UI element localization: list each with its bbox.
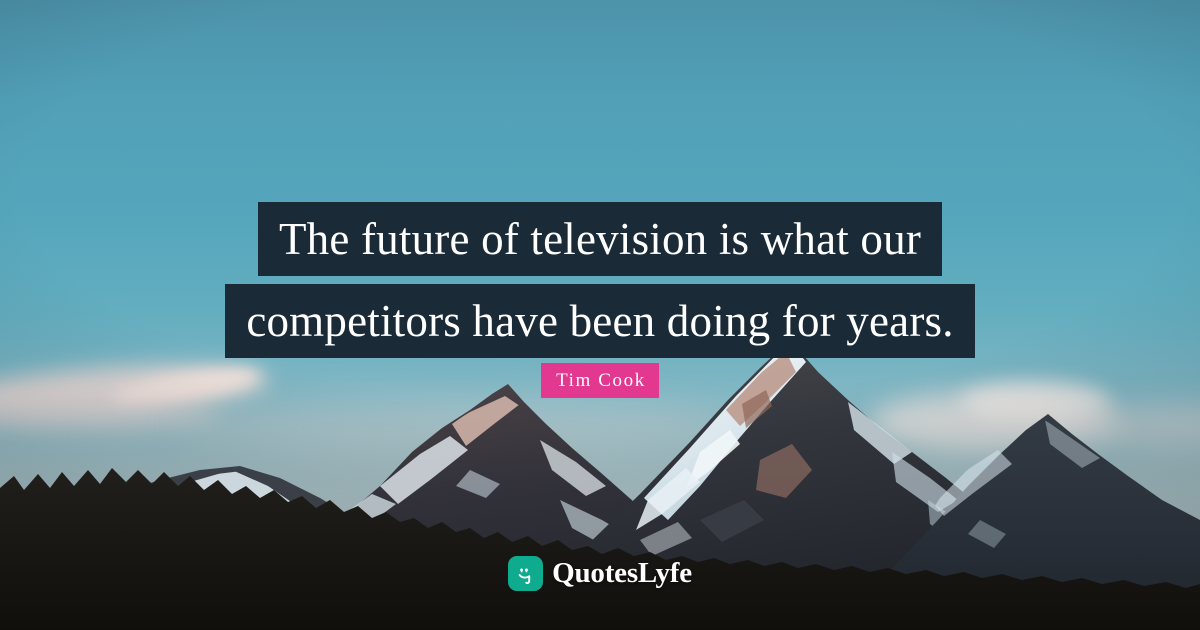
- brand-logo[interactable]: QuotesLyfe: [0, 556, 1200, 591]
- author-name-badge: Tim Cook: [541, 363, 659, 398]
- quote-line-2: competitors have been doing for years.: [225, 284, 974, 358]
- quote-line-2-wrap: competitors have been doing for years.: [0, 284, 1200, 358]
- author-attribution: Tim Cook: [0, 363, 1200, 398]
- quote-card: The future of television is what our com…: [0, 0, 1200, 630]
- quote-text-block: The future of television is what our com…: [0, 202, 1200, 358]
- quote-line-1-wrap: The future of television is what our: [0, 202, 1200, 276]
- quote-line-1: The future of television is what our: [258, 202, 942, 276]
- brand-name: QuotesLyfe: [552, 559, 692, 588]
- quote-smiley-icon: [508, 556, 543, 591]
